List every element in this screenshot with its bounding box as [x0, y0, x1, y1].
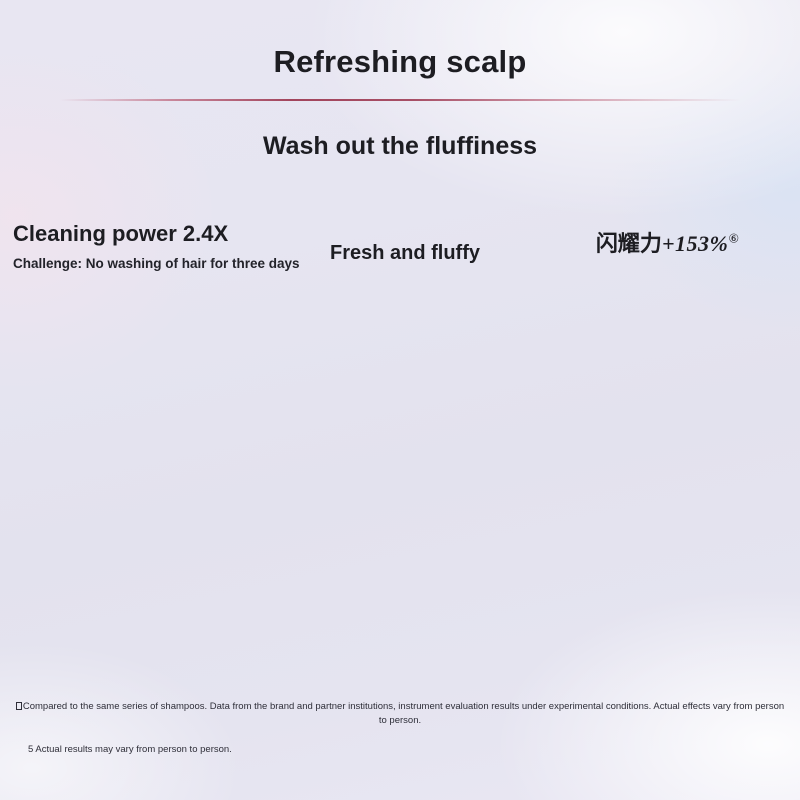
column-3-title-value: +153%	[662, 231, 728, 256]
footnote-1: Compared to the same series of shampoos.…	[14, 700, 786, 728]
page-subtitle: Wash out the fluffiness	[0, 132, 800, 161]
footnote-1-text: Compared to the same series of shampoos.…	[23, 701, 784, 726]
comparison-grid: Cleaning power 2.4X Challenge: No washin…	[0, 222, 800, 682]
column-1-subtitle: Challenge: No washing of hair for three …	[13, 256, 261, 271]
column-1-title: Cleaning power 2.4X	[13, 222, 261, 246]
column-3-title-cn: 闪耀力	[596, 231, 662, 256]
column-3-title: 闪耀力+153%⑥	[548, 232, 787, 256]
title-divider	[60, 99, 740, 101]
column-2-title: Fresh and fluffy	[285, 242, 525, 264]
page-title: Refreshing scalp	[0, 44, 800, 80]
column-fresh-fluffy: Fresh and fluffy before after	[285, 222, 525, 264]
footnote-2: 5 Actual results may vary from person to…	[14, 744, 786, 755]
poster-canvas: Refreshing scalp Wash out the fluffiness…	[0, 0, 800, 800]
footnote-mark-icon	[16, 702, 22, 710]
column-shine-power: 闪耀力+153%⑥ before	[548, 222, 787, 256]
footnotes: Compared to the same series of shampoos.…	[14, 700, 786, 755]
column-3-title-footnote-mark: ⑥	[728, 232, 739, 246]
column-cleaning-power: Cleaning power 2.4X Challenge: No washin…	[13, 222, 261, 271]
